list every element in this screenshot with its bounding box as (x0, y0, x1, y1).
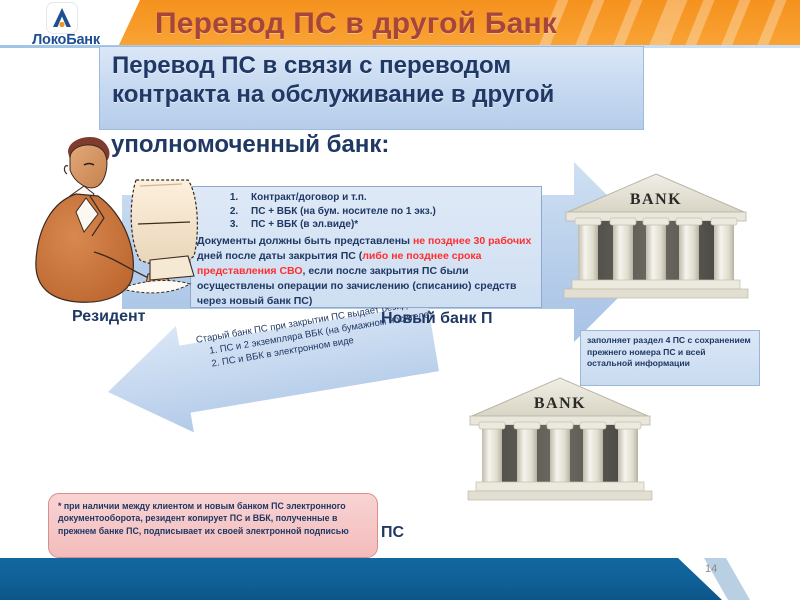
documents-item-1: Контракт/договор и т.п. (241, 191, 535, 205)
svg-text:BANK: BANK (630, 191, 682, 208)
footnote-box: * при наличии между клиентом и новым бан… (48, 493, 378, 558)
footer-band (0, 558, 722, 600)
side-note-box: заполняет раздел 4 ПС с сохранением преж… (580, 330, 760, 386)
documents-paragraph-part-2: не позднее 30 рабочих (413, 235, 531, 247)
subtitle-line-1: Перевод ПС в связи с переводом (112, 51, 635, 80)
documents-list: Контракт/договор и т.п. ПС + ВБК (на бум… (197, 191, 535, 232)
brand-logo: ЛокоБанк (10, 2, 122, 50)
bank-building-icon-1: BANK (558, 168, 754, 303)
loko-lambda-icon (46, 2, 78, 34)
subtitle-box: Перевод ПС в связи с переводом контракта… (99, 46, 644, 130)
label-ps: ПС (381, 524, 404, 542)
page-number: 14 (705, 563, 745, 575)
svg-text:BANK: BANK (534, 395, 586, 412)
slide: Перевод ПС в другой Банк ЛокоБанк Перево… (0, 0, 800, 600)
documents-paragraph-part-1: Документы должны быть представлены (197, 235, 413, 247)
documents-item-2: ПС + ВБК (на бум. носителе по 1 экз.) (241, 205, 535, 219)
label-new-bank: Новый банк П (381, 310, 493, 328)
documents-item-3: ПС + ВБК (в эл.виде)* (241, 218, 535, 232)
page-title: Перевод ПС в другой Банк (155, 3, 775, 45)
documents-box: Контракт/договор и т.п. ПС + ВБК (на бум… (190, 186, 542, 308)
documents-paragraph: Документы должны быть представлены не по… (197, 234, 535, 309)
subtitle-line-2: контракта на обслуживание в другой (112, 80, 635, 109)
subtitle-line-3: уполномоченный банк: (111, 130, 671, 159)
bank-building-icon-2: BANK (462, 372, 658, 504)
